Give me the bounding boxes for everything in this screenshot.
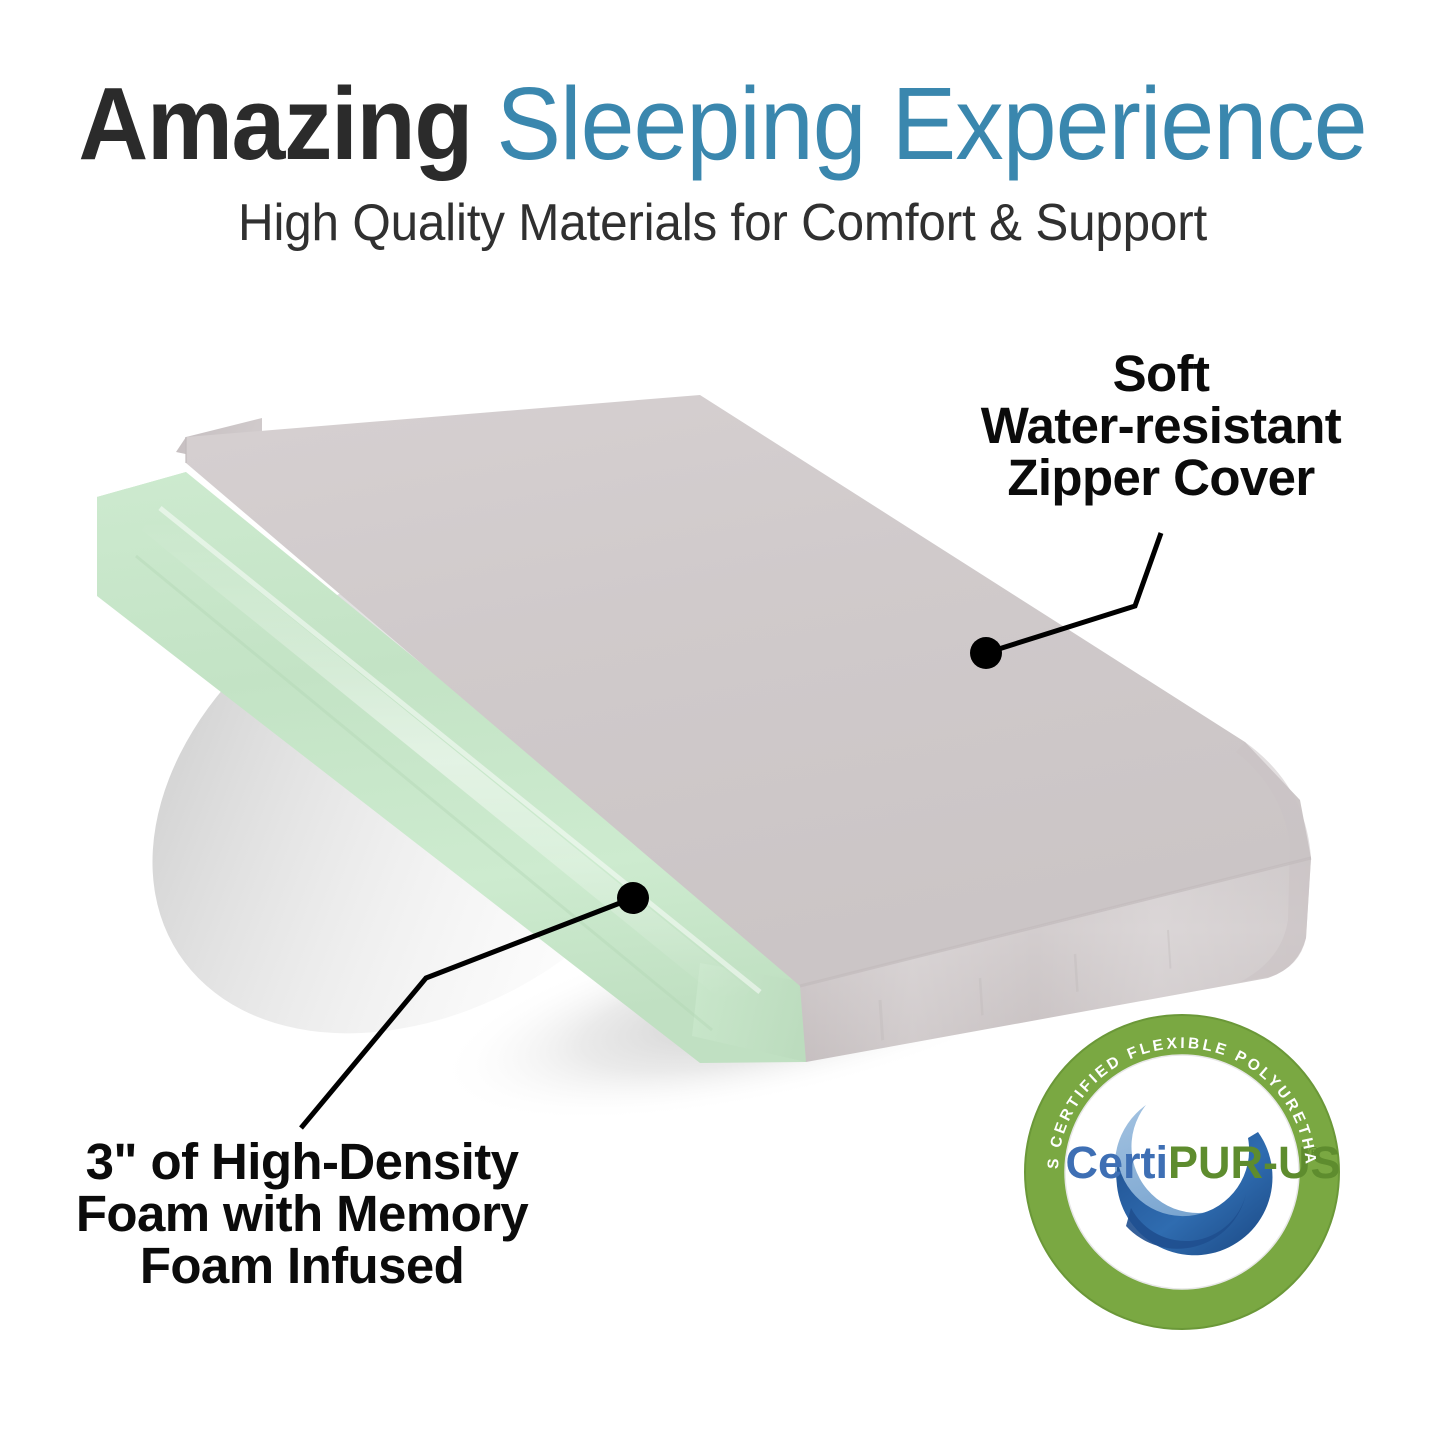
callout-cover-line-3: Zipper Cover	[905, 452, 1417, 504]
badge-wordmark-certi: Certi	[1065, 1137, 1168, 1188]
leader-line-foam	[301, 882, 649, 1128]
page-subtitle: High Quality Materials for Comfort & Sup…	[36, 175, 1409, 249]
callout-dot-cover	[970, 637, 1002, 669]
callout-foam-line-3: Foam Infused	[22, 1240, 582, 1292]
callout-foam-line-2: Foam with Memory	[22, 1188, 582, 1240]
page-title-primary: Amazing	[78, 66, 472, 181]
product-shadow	[61, 446, 1101, 1166]
page-title: AmazingSleeping Experience	[43, 0, 1401, 175]
certipur-us-badge: Certi PUR-US ® CONTAINS CERTIFIED FLEXIB…	[1022, 1012, 1342, 1332]
callout-dot-foam	[617, 882, 649, 914]
foam-core	[97, 472, 815, 1063]
callout-foam-line-1: 3" of High-Density	[22, 1136, 582, 1188]
infographic-canvas: AmazingSleeping Experience High Quality …	[0, 0, 1445, 1445]
callout-zipper-cover: Soft Water-resistant Zipper Cover	[905, 348, 1417, 504]
callout-cover-line-2: Water-resistant	[905, 400, 1417, 452]
header-block: AmazingSleeping Experience High Quality …	[0, 0, 1445, 249]
leader-line-cover	[970, 533, 1161, 669]
page-title-accent: Sleeping Experience	[496, 66, 1366, 181]
callout-cover-line-1: Soft	[905, 348, 1417, 400]
callout-foam-density: 3" of High-Density Foam with Memory Foam…	[22, 1136, 582, 1292]
